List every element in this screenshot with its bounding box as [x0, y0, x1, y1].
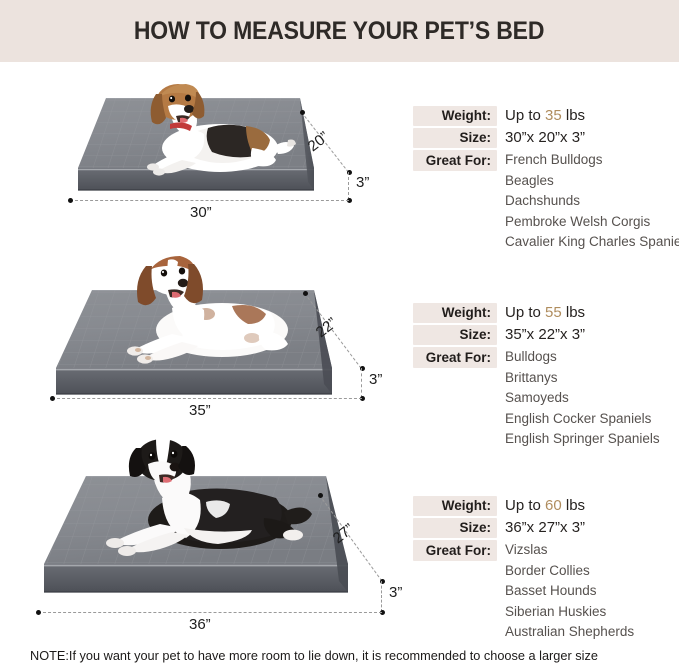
- spec-label-weight: Weight:: [413, 496, 497, 516]
- spec-value-weight: Up to 35 lbs: [497, 106, 585, 126]
- dim-line-height: [361, 368, 362, 398]
- spec-row-weight: Weight: Up to 35 lbs: [413, 106, 679, 126]
- dim-line-height: [348, 172, 349, 200]
- dim-line-width: [70, 200, 349, 201]
- dim-label-height: 3”: [356, 174, 369, 191]
- breed-list-large: Vizslas Border Collies Basset Hounds Sib…: [497, 540, 634, 643]
- spec-row-great-for: Great For: Bulldogs Brittanys Samoyeds E…: [413, 347, 679, 450]
- weight-prefix: Up to: [505, 107, 545, 124]
- spec-value-size: 30”x 20”x 3”: [497, 128, 585, 148]
- breed-list-medium: Bulldogs Brittanys Samoyeds English Cock…: [497, 347, 660, 450]
- dim-label-width: 30”: [190, 204, 212, 221]
- list-item: Australian Shepherds: [505, 622, 634, 643]
- list-item: Beagles: [505, 171, 679, 192]
- bed-illustration-medium: [42, 268, 342, 418]
- header-banner: HOW TO MEASURE YOUR PET’S BED: [0, 0, 679, 62]
- list-item: Bulldogs: [505, 347, 660, 368]
- dim-dot-depth-top: [318, 493, 323, 498]
- list-item: Vizslas: [505, 540, 634, 561]
- dog-beagle: [112, 76, 312, 188]
- product-row-small: 20” 3” 30” Weight: Up to 35 lbs Size: 30…: [0, 78, 679, 248]
- spec-row-great-for: Great For: French Bulldogs Beagles Dachs…: [413, 150, 679, 253]
- spec-label-size: Size:: [413, 518, 497, 538]
- list-item: Brittanys: [505, 368, 660, 389]
- list-item: French Bulldogs: [505, 150, 679, 171]
- spec-label-great-for: Great For:: [413, 150, 497, 171]
- product-row-large: 27” 3” 36” Weight: Up to 60 lbs Size: 36…: [0, 440, 679, 630]
- weight-suffix: lbs: [562, 497, 585, 514]
- breed-list-small: French Bulldogs Beagles Dachshunds Pembr…: [497, 150, 679, 253]
- spec-value-weight: Up to 60 lbs: [497, 496, 585, 516]
- dim-dot-depth-top: [300, 110, 305, 115]
- weight-value: 35: [545, 107, 562, 124]
- dim-dot-width-left: [36, 610, 41, 615]
- spec-label-size: Size:: [413, 325, 497, 345]
- dim-dot-width-left: [68, 198, 73, 203]
- spec-label-weight: Weight:: [413, 106, 497, 126]
- dim-line-width: [38, 612, 382, 613]
- spec-value-size: 36”x 27”x 3”: [497, 518, 585, 538]
- weight-value: 60: [545, 497, 562, 514]
- list-item: Basset Hounds: [505, 581, 634, 602]
- spec-panel-small: Weight: Up to 35 lbs Size: 30”x 20”x 3” …: [413, 106, 679, 255]
- spec-value-size: 35”x 22”x 3”: [497, 325, 585, 345]
- page-title: HOW TO MEASURE YOUR PET’S BED: [134, 17, 544, 46]
- dim-label-height: 3”: [369, 371, 382, 388]
- spec-label-great-for: Great For:: [413, 347, 497, 368]
- list-item: Cavalier King Charles Spaniels: [505, 232, 679, 253]
- spec-panel-medium: Weight: Up to 55 lbs Size: 35”x 22”x 3” …: [413, 303, 679, 452]
- dog-brittany: [102, 254, 332, 379]
- list-item: Dachshunds: [505, 191, 679, 212]
- infographic-page: HOW TO MEASURE YOUR PET’S BED: [0, 0, 679, 668]
- bed-illustration-small: [62, 78, 322, 218]
- list-item: English Cocker Spaniels: [505, 409, 660, 430]
- spec-panel-large: Weight: Up to 60 lbs Size: 36”x 27”x 3” …: [413, 496, 679, 645]
- product-row-medium: 22” 3” 35” Weight: Up to 55 lbs Size: 35…: [0, 258, 679, 438]
- dog-border-collie: [88, 436, 338, 576]
- spec-value-weight: Up to 55 lbs: [497, 303, 585, 323]
- spec-label-size: Size:: [413, 128, 497, 148]
- weight-prefix: Up to: [505, 497, 545, 514]
- footer-note: NOTE:If you want your pet to have more r…: [30, 648, 598, 663]
- list-item: Border Collies: [505, 561, 634, 582]
- spec-row-great-for: Great For: Vizslas Border Collies Basset…: [413, 540, 679, 643]
- list-item: Pembroke Welsh Corgis: [505, 212, 679, 233]
- dim-line-height: [381, 581, 382, 612]
- spec-label-great-for: Great For:: [413, 540, 497, 561]
- spec-label-weight: Weight:: [413, 303, 497, 323]
- weight-value: 55: [545, 304, 562, 321]
- dim-label-width: 36”: [189, 616, 211, 633]
- dim-dot-depth-top: [303, 291, 308, 296]
- bed-illustration-large: [30, 458, 360, 618]
- dim-label-width: 35”: [189, 402, 211, 419]
- dim-label-height: 3”: [389, 584, 402, 601]
- dim-dot-width-left: [50, 396, 55, 401]
- spec-row-size: Size: 36”x 27”x 3”: [413, 518, 679, 538]
- weight-suffix: lbs: [562, 107, 585, 124]
- spec-row-size: Size: 35”x 22”x 3”: [413, 325, 679, 345]
- list-item: Siberian Huskies: [505, 602, 634, 623]
- weight-suffix: lbs: [562, 304, 585, 321]
- spec-row-weight: Weight: Up to 60 lbs: [413, 496, 679, 516]
- dim-line-width: [52, 398, 362, 399]
- spec-row-weight: Weight: Up to 55 lbs: [413, 303, 679, 323]
- list-item: Samoyeds: [505, 388, 660, 409]
- spec-row-size: Size: 30”x 20”x 3”: [413, 128, 679, 148]
- weight-prefix: Up to: [505, 304, 545, 321]
